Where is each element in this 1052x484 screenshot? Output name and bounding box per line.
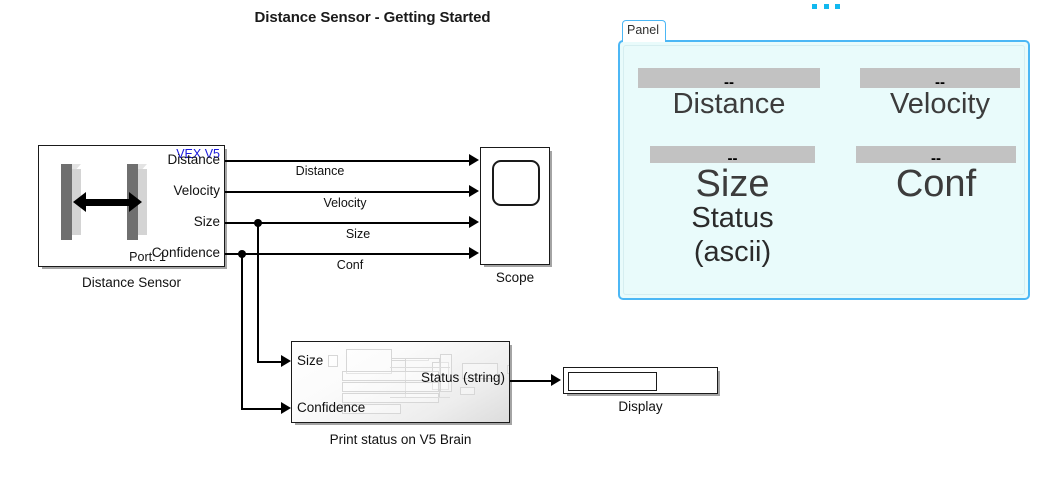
signal-label-velocity: Velocity bbox=[280, 196, 410, 210]
gauge-label: Status bbox=[650, 202, 815, 235]
gauge-label: Size bbox=[650, 163, 815, 206]
wire-status-arrowhead bbox=[551, 374, 561, 386]
wire-distance-arrowhead bbox=[469, 154, 479, 166]
print-status-subsystem-label: Print status on V5 Brain bbox=[291, 432, 510, 447]
wire-velocity-arrowhead bbox=[469, 185, 479, 197]
scope-block[interactable] bbox=[480, 147, 550, 265]
input-port-size: Size bbox=[297, 353, 323, 368]
wire-size-branch-vertical[interactable] bbox=[257, 222, 259, 362]
wire-velocity[interactable] bbox=[225, 191, 473, 193]
gauge-label: Conf bbox=[856, 163, 1016, 206]
scope-block-label: Scope bbox=[480, 270, 550, 285]
ellipsis-dot-3 bbox=[835, 4, 840, 9]
scope-screen-icon bbox=[492, 160, 540, 206]
double-arrow-left-head-icon bbox=[73, 192, 86, 212]
gauge-label: Distance bbox=[638, 88, 820, 121]
wire-size-branch-arrowhead bbox=[281, 355, 291, 367]
inner-mini-block bbox=[460, 387, 475, 395]
wire-confidence-branch-vertical[interactable] bbox=[241, 253, 243, 409]
simulink-model-canvas: Distance Sensor - Getting Started VEX V5… bbox=[0, 0, 1052, 484]
display-block[interactable] bbox=[563, 367, 718, 394]
output-port-velocity: Velocity bbox=[173, 183, 220, 198]
gauge-label-second-line: (ascii) bbox=[650, 236, 815, 269]
panel-tab-label: Panel bbox=[627, 23, 659, 37]
print-status-subsystem-block[interactable]: Size Confidence Status (string) bbox=[291, 341, 510, 423]
panel-gauge-distance[interactable]: -- Distance bbox=[638, 68, 820, 96]
display-block-label: Display bbox=[563, 399, 718, 414]
signal-label-conf: Conf bbox=[285, 258, 415, 272]
distance-sensor-block[interactable]: VEX V5 Distance Velocity Size Confidence… bbox=[38, 145, 225, 267]
wire-size-arrowhead bbox=[469, 216, 479, 228]
wire-confidence[interactable] bbox=[225, 253, 473, 255]
panel-drag-handle-ellipsis-icon[interactable] bbox=[812, 4, 840, 9]
wire-distance[interactable] bbox=[225, 160, 473, 162]
ellipsis-dot-2 bbox=[824, 4, 829, 9]
display-value-field bbox=[568, 372, 657, 391]
output-port-status-string: Status (string) bbox=[421, 370, 505, 385]
port-number-label: Port: 1 bbox=[129, 250, 166, 264]
inner-mini-wire bbox=[390, 397, 450, 398]
panel-tab[interactable]: Panel bbox=[622, 20, 666, 42]
wire-confidence-branch-arrowhead bbox=[281, 402, 291, 414]
gauge-label: Velocity bbox=[860, 88, 1020, 121]
inner-mini-block bbox=[507, 365, 510, 374]
panel-gauge-size[interactable]: -- Size bbox=[650, 146, 815, 174]
inner-mini-block bbox=[328, 355, 338, 367]
signal-label-distance: Distance bbox=[255, 164, 385, 178]
signal-label-size: Size bbox=[293, 227, 423, 241]
distance-sensor-block-label: Distance Sensor bbox=[38, 275, 225, 290]
panel-body: -- Distance -- Velocity -- Size -- Conf … bbox=[618, 40, 1030, 300]
panel-gauge-conf[interactable]: -- Conf bbox=[856, 146, 1016, 174]
wire-confidence-arrowhead bbox=[469, 247, 479, 259]
input-port-confidence: Confidence bbox=[297, 400, 365, 415]
ellipsis-dot-1 bbox=[812, 4, 817, 9]
double-arrow-icon bbox=[83, 199, 131, 206]
output-port-distance: Distance bbox=[167, 152, 220, 167]
double-arrow-right-head-icon bbox=[129, 192, 142, 212]
output-port-size: Size bbox=[194, 214, 220, 229]
wire-status[interactable] bbox=[510, 380, 555, 382]
panel-gauge-velocity[interactable]: -- Velocity bbox=[860, 68, 1020, 96]
wire-size[interactable] bbox=[225, 222, 473, 224]
wire-confidence-branch-horizontal[interactable] bbox=[241, 408, 285, 410]
inner-mini-wire bbox=[390, 367, 450, 368]
